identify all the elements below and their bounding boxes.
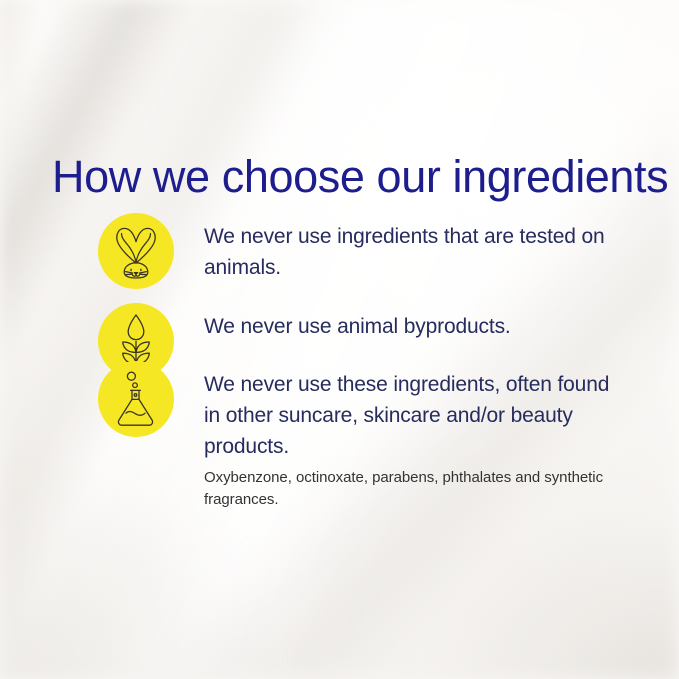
lab-flask-bubbles-icon (98, 361, 174, 437)
list-item-label: We never use these ingredients, often fo… (204, 369, 624, 462)
list-item: We never use animal byproducts. (0, 303, 679, 342)
ingredients-infographic: How we choose our ingredients (0, 0, 679, 679)
list-item-label: We never use animal byproducts. (204, 311, 511, 342)
list-item: We never use ingredients that are tested… (0, 213, 679, 283)
list-item-text-block: We never use ingredients that are tested… (204, 213, 624, 283)
benefit-list: We never use ingredients that are tested… (0, 213, 679, 511)
bunny-heart-ears-icon (98, 213, 174, 289)
list-item-note: Oxybenzone, octinoxate, parabens, phthal… (204, 467, 624, 511)
list-item: We never use these ingredients, often fo… (0, 361, 679, 511)
list-item-text-block: We never use these ingredients, often fo… (204, 361, 624, 511)
list-item-text-block: We never use animal byproducts. (204, 303, 511, 342)
list-item-label: We never use ingredients that are tested… (204, 221, 624, 283)
page-title: How we choose our ingredients (52, 152, 668, 202)
